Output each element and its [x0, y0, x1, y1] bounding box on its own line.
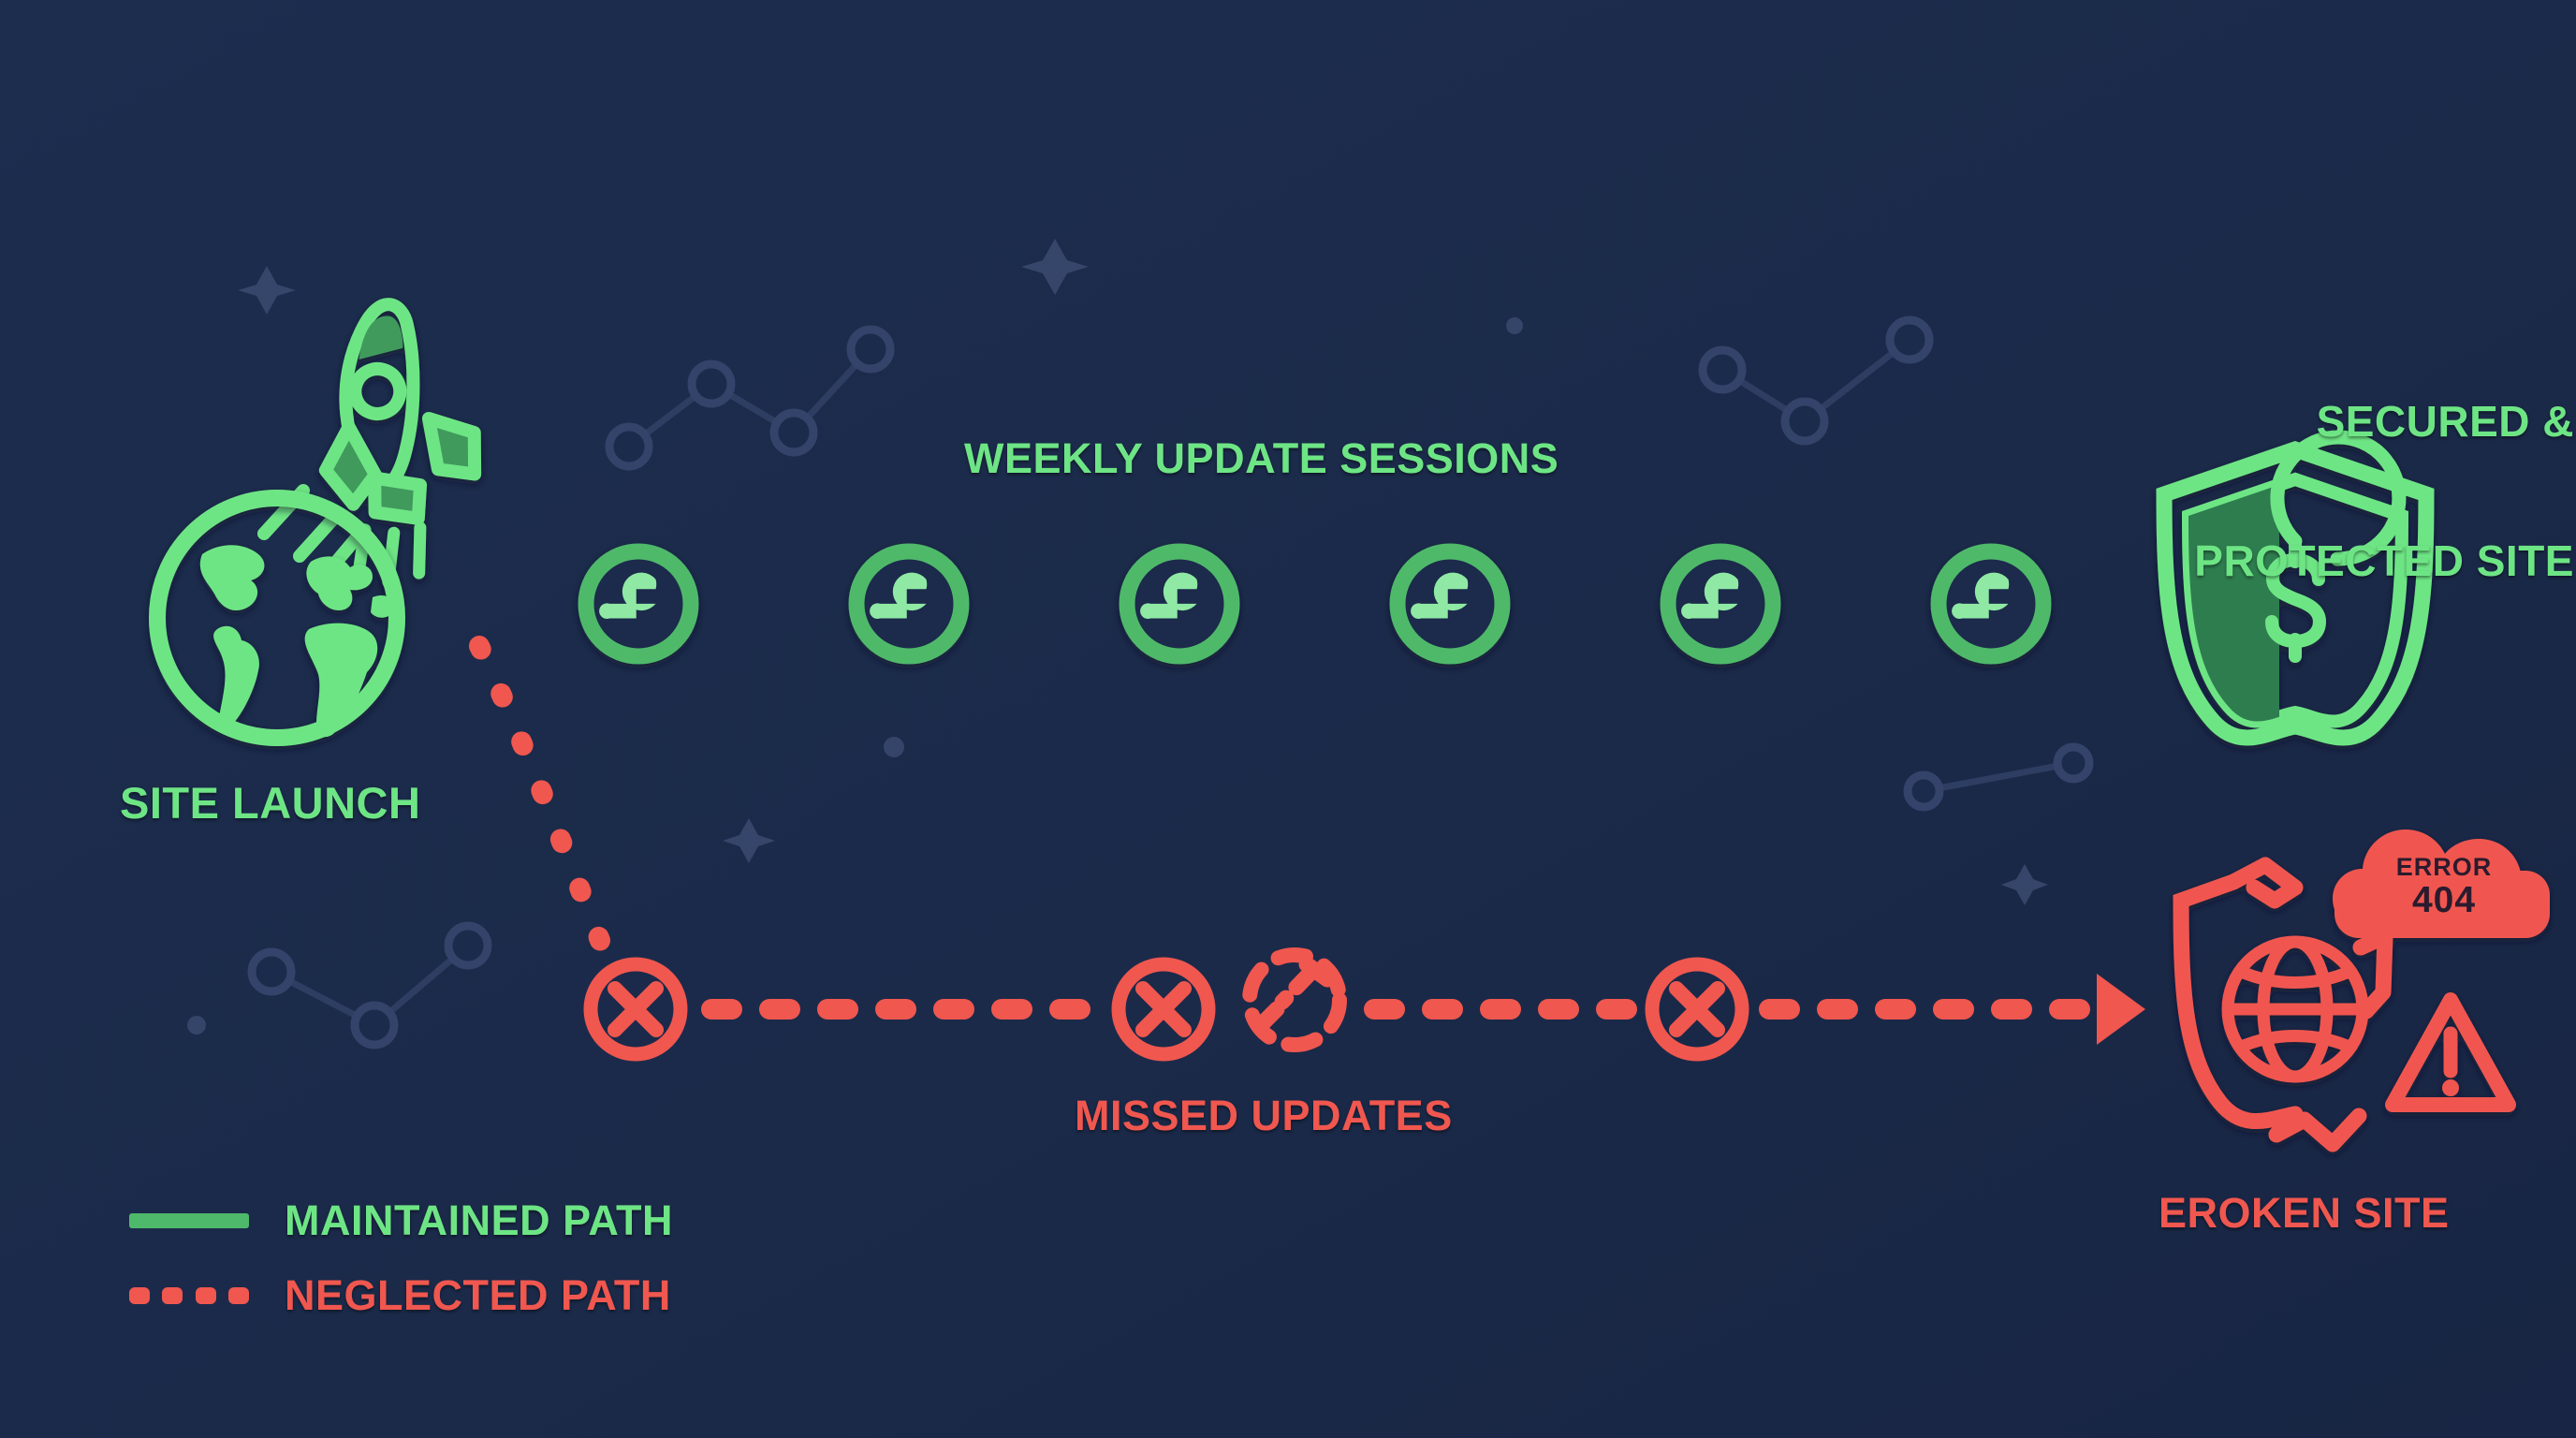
wrench-node[interactable] — [1668, 551, 1773, 656]
secured-line-2: PROTECTED SITE — [2194, 538, 2574, 585]
dotted-line-swatch-icon — [129, 1287, 249, 1304]
rocket-icon — [307, 300, 490, 582]
site-launch-label: SITE LAUNCH — [120, 780, 420, 828]
neglected-path-branch — [479, 646, 607, 957]
missed-updates-label: MISSED UPDATES — [1075, 1093, 1453, 1139]
infographic-canvas: ERROR 404 SITE LAUNCH WEEKLY UPDATE SESS… — [0, 0, 2576, 1438]
globe-icon — [157, 498, 397, 738]
weekly-update-sessions-label: WEEKLY UPDATE SESSIONS — [964, 436, 1559, 482]
broken-site-label: EROKEN SITE — [2159, 1191, 2450, 1237]
broken-wrench-dashed-icon — [1250, 955, 1339, 1045]
legend-item-neglected-path: NEGLECTED PATH — [129, 1271, 671, 1320]
secured-line-1: SECURED & — [2194, 399, 2574, 446]
x-circle-icon[interactable] — [1119, 964, 1208, 1054]
secured-protected-site-label: SECURED & PROTECTED SITE — [2194, 306, 2574, 678]
wrench-node[interactable] — [856, 551, 961, 656]
wrench-node[interactable] — [1398, 551, 1502, 656]
error-label: ERROR — [2340, 855, 2548, 880]
wrench-node[interactable] — [1939, 551, 2043, 656]
neglected-path-arrow-icon — [2097, 974, 2145, 1045]
solid-line-swatch-icon — [129, 1213, 249, 1228]
error-code: 404 — [2340, 882, 2548, 918]
legend-label-neglected: NEGLECTED PATH — [285, 1271, 671, 1320]
x-circle-icon[interactable] — [1652, 964, 1742, 1054]
wrench-node[interactable] — [1127, 551, 1232, 656]
legend-label-maintained: MAINTAINED PATH — [285, 1196, 673, 1245]
wrench-node[interactable] — [586, 551, 691, 656]
error-404-text-group: ERROR 404 — [2340, 855, 2548, 918]
x-circle-icon[interactable] — [591, 964, 681, 1054]
warning-triangle-icon — [2393, 1000, 2509, 1105]
legend-item-maintained-path: MAINTAINED PATH — [129, 1196, 673, 1245]
